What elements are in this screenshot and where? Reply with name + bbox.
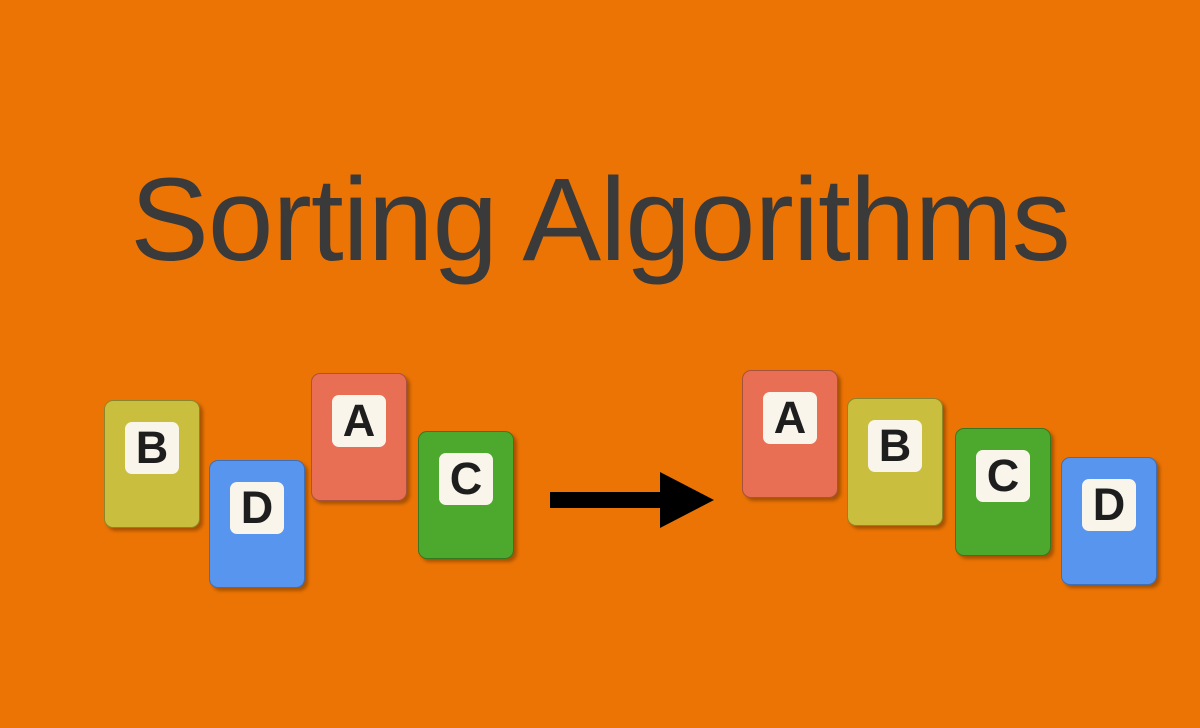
unsorted-card-group: B D A C bbox=[0, 0, 1200, 728]
card-unsorted-a[interactable]: A bbox=[311, 373, 407, 501]
card-unsorted-c[interactable]: C bbox=[418, 431, 514, 559]
card-sorted-d[interactable]: D bbox=[1061, 457, 1157, 585]
card-sorted-c[interactable]: C bbox=[955, 428, 1051, 556]
card-letter-tile: A bbox=[332, 395, 386, 447]
card-unsorted-d[interactable]: D bbox=[209, 460, 305, 588]
sorted-card-group: A B C D bbox=[0, 0, 1200, 728]
card-letter-tile: D bbox=[1082, 479, 1136, 531]
page-title: Sorting Algorithms bbox=[0, 155, 1200, 285]
slide-canvas: Sorting Algorithms B D A C A B C D bbox=[0, 0, 1200, 728]
card-letter-tile: C bbox=[439, 453, 493, 505]
card-unsorted-b[interactable]: B bbox=[104, 400, 200, 528]
card-letter-tile: D bbox=[230, 482, 284, 534]
card-sorted-a[interactable]: A bbox=[742, 370, 838, 498]
card-letter-tile: A bbox=[763, 392, 817, 444]
card-letter-tile: B bbox=[125, 422, 179, 474]
card-letter-tile: B bbox=[868, 420, 922, 472]
card-sorted-b[interactable]: B bbox=[847, 398, 943, 526]
right-arrow-icon bbox=[548, 468, 716, 532]
card-letter-tile: C bbox=[976, 450, 1030, 502]
